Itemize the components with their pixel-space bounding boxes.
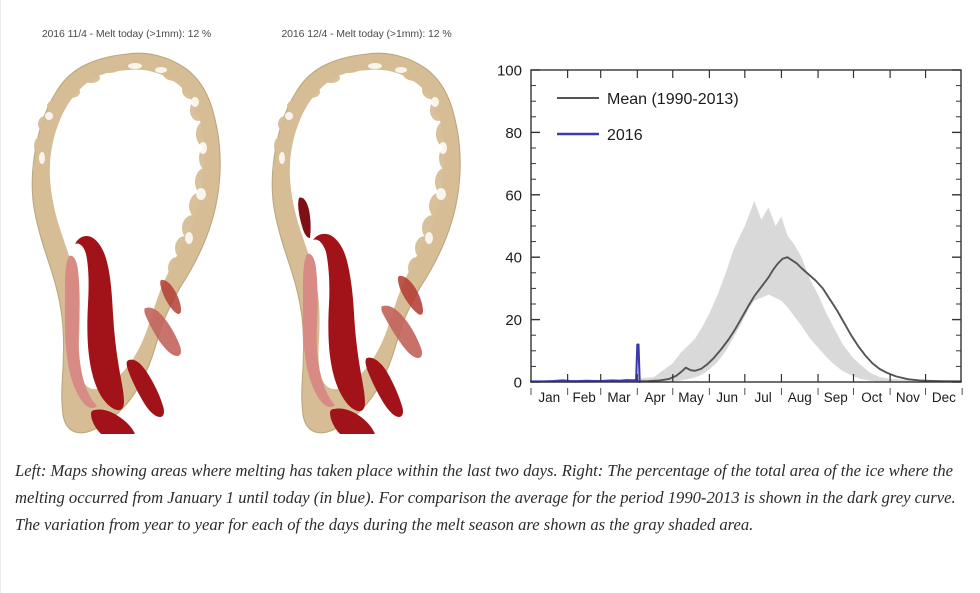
melt-fill-southtip (330, 408, 375, 434)
y-tick-label: 80 (505, 125, 522, 142)
y-tick-label: 0 (514, 375, 522, 392)
x-tick-label: Sep (824, 390, 848, 405)
x-tick-label: Mar (607, 390, 631, 405)
legend-label: 2016 (607, 127, 643, 144)
x-tick-label: Oct (861, 390, 882, 405)
x-tick-label: Jan (538, 390, 560, 405)
chart-axes: 020406080100JanFebMarAprMayJunJulAugSepO… (497, 63, 962, 406)
series-line-2016 (531, 345, 640, 382)
x-tick-label: Apr (645, 390, 667, 405)
y-tick-label: 100 (497, 63, 522, 80)
y-tick-label: 40 (505, 250, 522, 267)
greenland-map-right (249, 48, 484, 438)
maps-panel: 2016 11/4 - Melt today (>1mm): 12 % (1, 22, 481, 442)
map-title-right: 2016 12/4 - Melt today (>1mm): 12 % (249, 28, 484, 40)
y-tick-label: 20 (505, 312, 522, 329)
chart-svg: 020406080100JanFebMarAprMayJunJulAugSepO… (479, 60, 975, 420)
map-block-left: 2016 11/4 - Melt today (>1mm): 12 % (9, 22, 244, 442)
x-tick-label: Feb (573, 390, 596, 405)
x-tick-label: Aug (788, 390, 812, 405)
map-block-right: 2016 12/4 - Melt today (>1mm): 12 % (249, 22, 484, 442)
x-tick-label: Jul (754, 390, 771, 405)
melt-fill-southtip (91, 409, 135, 434)
x-tick-label: Jun (716, 390, 738, 405)
variation-band (531, 201, 961, 382)
melt-percentage-chart: 020406080100JanFebMarAprMayJunJulAugSepO… (479, 60, 975, 420)
figure-caption: Left: Maps showing areas where melting h… (15, 458, 965, 539)
x-tick-label: Dec (932, 390, 956, 405)
legend-label: Mean (1990-2013) (607, 91, 739, 108)
greenland-map-left (9, 48, 244, 438)
variation-band-polygon (531, 201, 961, 382)
y-tick-label: 60 (505, 187, 522, 204)
x-tick-label: May (678, 390, 704, 405)
x-tick-label: Nov (896, 390, 920, 405)
chart-legend: Mean (1990-2013)2016 (557, 91, 739, 144)
figure-root: 2016 11/4 - Melt today (>1mm): 12 % (0, 0, 980, 593)
map-title-left: 2016 11/4 - Melt today (>1mm): 12 % (9, 28, 244, 40)
